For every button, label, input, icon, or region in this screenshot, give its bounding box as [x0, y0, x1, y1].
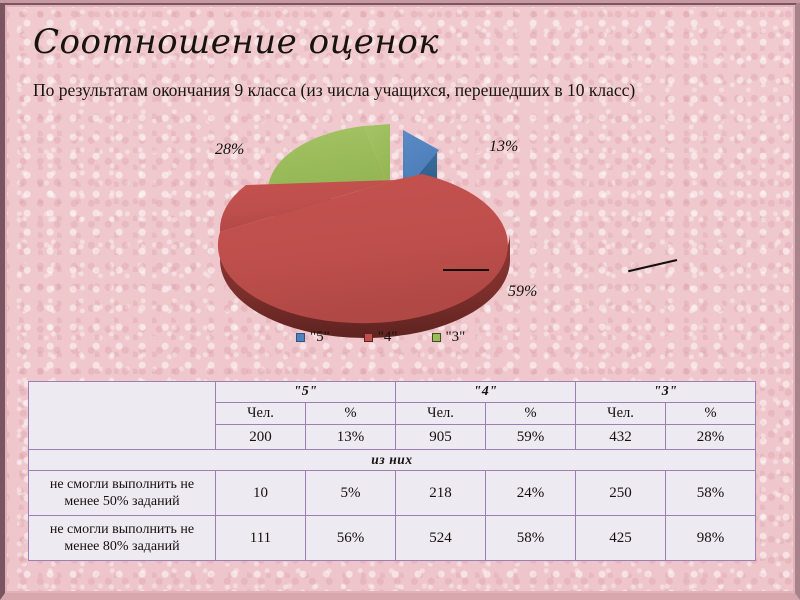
- legend-swatch-5-icon: [296, 333, 305, 342]
- table-group-4: "4": [396, 382, 576, 403]
- row0-cell-1: 5%: [306, 471, 396, 516]
- row-label-80-line2: менее 80% заданий: [64, 539, 179, 554]
- row0-cell-2: 218: [396, 471, 486, 516]
- legend-label-5: "5": [310, 329, 330, 346]
- row0-cell-0: 10: [216, 471, 306, 516]
- row1-cell-2: 524: [396, 516, 486, 561]
- legend-swatch-4-icon: [364, 333, 373, 342]
- legend-item-4: "4": [364, 329, 398, 346]
- table-row: не смогли выполнить не менее 80% заданий…: [29, 516, 756, 561]
- chart-legend: "5" "4" "3": [296, 329, 465, 346]
- row0-cell-5: 58%: [666, 471, 756, 516]
- table-subheader-4: Чел.: [576, 403, 666, 425]
- total-cell-1: 13%: [306, 425, 396, 450]
- page-title: Соотношение оценок: [33, 22, 439, 62]
- pie-chart-svg: [190, 112, 610, 362]
- pie-slice-4: [218, 174, 510, 338]
- legend-item-5: "5": [296, 329, 330, 346]
- legend-swatch-3-icon: [432, 333, 441, 342]
- row-label-80-line1: не смогли выполнить не: [50, 522, 194, 537]
- table-row-group-header: "5" "4" "3": [29, 382, 756, 403]
- slide-frame-highlight: [0, 0, 800, 3]
- total-cell-5: 28%: [666, 425, 756, 450]
- page-subtitle: По результатам окончания 9 класса (из чи…: [33, 80, 635, 101]
- row1-cell-5: 98%: [666, 516, 756, 561]
- row-label-50: не смогли выполнить не менее 50% заданий: [29, 471, 216, 516]
- row1-cell-4: 425: [576, 516, 666, 561]
- table-subheader-2: Чел.: [396, 403, 486, 425]
- total-cell-2: 905: [396, 425, 486, 450]
- total-cell-0: 200: [216, 425, 306, 450]
- row0-cell-3: 24%: [486, 471, 576, 516]
- table-subheader-3: %: [486, 403, 576, 425]
- table-section-label: из них: [29, 450, 756, 471]
- pie-label-5: 13%: [489, 138, 518, 156]
- row0-cell-4: 250: [576, 471, 666, 516]
- legend-item-3: "3": [432, 329, 466, 346]
- row1-cell-1: 56%: [306, 516, 396, 561]
- table-corner-cell: [29, 382, 216, 450]
- grades-table: "5" "4" "3" Чел. % Чел. % Чел. % 200 13%…: [28, 381, 756, 561]
- pie-label-4: 59%: [508, 283, 537, 301]
- table-group-5: "5": [216, 382, 396, 403]
- row-label-50-line1: не смогли выполнить не: [50, 477, 194, 492]
- row1-cell-3: 58%: [486, 516, 576, 561]
- row1-cell-0: 111: [216, 516, 306, 561]
- total-cell-3: 59%: [486, 425, 576, 450]
- table-subheader-5: %: [666, 403, 756, 425]
- legend-label-4: "4": [378, 329, 398, 346]
- table-row: не смогли выполнить не менее 50% заданий…: [29, 471, 756, 516]
- row-label-50-line2: менее 50% заданий: [64, 494, 179, 509]
- leader-line-3: [443, 269, 489, 271]
- pie-chart: [190, 112, 610, 362]
- row-label-80: не смогли выполнить не менее 80% заданий: [29, 516, 216, 561]
- table-subheader-1: %: [306, 403, 396, 425]
- table-subheader-0: Чел.: [216, 403, 306, 425]
- leader-line-5: [628, 259, 677, 272]
- pie-label-3: 28%: [215, 141, 244, 159]
- legend-label-3: "3": [446, 329, 466, 346]
- table-row-section: из них: [29, 450, 756, 471]
- total-cell-4: 432: [576, 425, 666, 450]
- slide: Соотношение оценок По результатам оконча…: [0, 0, 800, 600]
- table-group-3: "3": [576, 382, 756, 403]
